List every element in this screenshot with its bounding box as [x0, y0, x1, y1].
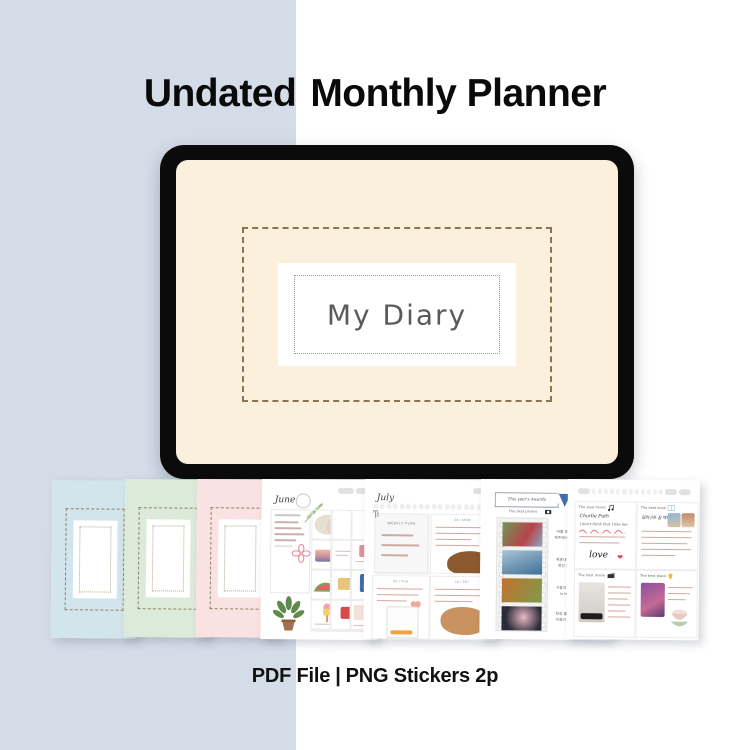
note-line	[668, 599, 686, 601]
tablet-screen: My Diary	[176, 160, 618, 464]
cover-outer-dashed-frame: My Diary	[242, 227, 552, 402]
bestof-music-label: The best music	[579, 505, 606, 509]
note-line	[579, 542, 619, 544]
day-note-line	[435, 545, 479, 547]
day-number-chip[interactable]	[470, 504, 475, 510]
calendar-cell[interactable]	[311, 540, 331, 570]
thumb-june-monthly[interactable]: June	[260, 479, 380, 640]
day-number-chip[interactable]	[641, 489, 645, 495]
day-number-chip[interactable]	[444, 504, 449, 510]
day-number-chip[interactable]	[438, 504, 443, 510]
memo-item-line	[381, 544, 419, 546]
awards-banner-title: This year's Awards	[496, 497, 558, 503]
footer-pdf-label: PDF File	[252, 665, 330, 687]
awards-photos-label: The best photos	[509, 509, 538, 513]
checklist-item-line	[274, 539, 296, 541]
place-photo-sticker	[641, 583, 665, 617]
note-line	[608, 610, 626, 612]
cover-white-box	[146, 519, 191, 597]
july-month-label: July	[377, 493, 394, 503]
day-number-chip[interactable]	[399, 503, 404, 509]
day-number-chip[interactable]	[653, 489, 657, 495]
note-line	[608, 598, 628, 600]
watermelon-sticker-icon	[313, 574, 331, 594]
cell-note-line	[314, 623, 329, 625]
bestof-place-label: The best place	[640, 574, 666, 578]
note-line	[668, 593, 690, 595]
cell-note-line	[335, 555, 348, 557]
cover-dash-inner	[79, 526, 112, 592]
day-number-chip[interactable]	[592, 489, 596, 495]
awards-photo-4[interactable]	[501, 606, 541, 630]
calendar-cell[interactable]	[330, 600, 350, 630]
teacup-sticker-icon	[666, 605, 692, 631]
movie-poster-title-band	[581, 613, 603, 619]
day-number-chip[interactable]	[425, 504, 430, 510]
book-icon	[668, 505, 675, 511]
thumbnail-strip: June	[0, 470, 750, 670]
bestof-music-title: Charlie Puth	[580, 514, 609, 519]
awards-photo-3[interactable]	[502, 578, 542, 602]
calendar-cell[interactable]	[311, 510, 331, 540]
day-number-chip[interactable]	[464, 504, 469, 510]
note-line	[608, 616, 631, 618]
pin-icon	[668, 573, 673, 580]
footer-png-label: PNG Stickers 2p	[346, 665, 499, 687]
banner-left-notch	[488, 492, 495, 504]
bestof-card-book[interactable]: The best book 달러구트 꿈 백화점	[636, 502, 699, 571]
flower-sticker-icon	[291, 543, 311, 563]
awards-photo-1[interactable]	[502, 522, 542, 546]
day-number-chip[interactable]	[622, 489, 626, 495]
bestof-book-label: The best book	[641, 506, 666, 510]
day-number-chip[interactable]	[431, 504, 436, 510]
tablet-mockup: My Diary	[160, 145, 634, 479]
sticker-gift	[341, 607, 351, 619]
day-number-chip[interactable]	[628, 489, 632, 495]
day-number-chip[interactable]	[374, 503, 379, 509]
calendar-cell[interactable]	[331, 540, 351, 570]
day-number-chip[interactable]	[598, 489, 602, 495]
day-number-chip[interactable]	[387, 503, 392, 509]
memo-item-line	[381, 554, 408, 556]
tab-awards[interactable]	[665, 489, 677, 495]
thumb-july-weekly[interactable]: July	[363, 479, 497, 640]
poster-canvas: UndatedMonthly Planner My Diary	[0, 0, 750, 750]
bestof-music-subtitle: I don't think that I like her	[580, 522, 628, 527]
day-note-line	[435, 601, 473, 603]
day-number-chip[interactable]	[634, 489, 638, 495]
page-footer: PDF File|PNG Stickers 2p	[0, 665, 750, 688]
camera-icon	[545, 509, 552, 515]
checklist-item-line	[274, 533, 304, 535]
calendar-cell[interactable]	[311, 570, 331, 600]
page-canvas: July	[367, 483, 493, 636]
note-line	[668, 587, 693, 589]
memo-item-line	[381, 534, 413, 536]
day-number-chip[interactable]	[659, 489, 663, 495]
calendar-cell[interactable]	[330, 630, 350, 632]
sticker-sunset-photo	[315, 550, 331, 562]
cover-dash-inner	[224, 525, 257, 591]
bestof-card-place[interactable]: The best place	[635, 570, 698, 639]
title-word-monthly-planner: Monthly Planner	[310, 72, 606, 115]
zigzag-underline	[579, 528, 625, 533]
title-word-undated: Undated	[144, 72, 297, 115]
book-photo-2	[682, 513, 695, 527]
note-line	[608, 604, 631, 606]
june-calendar-grid	[310, 510, 371, 633]
book-photo-1	[668, 513, 681, 527]
cover-white-panel: My Diary	[278, 263, 516, 366]
clip-icon	[372, 510, 380, 519]
footer-separator: |	[335, 665, 340, 687]
awards-banner: This year's Awards	[495, 492, 559, 508]
memo-title: WEEKLY PLAN	[376, 521, 428, 526]
day-number-chip[interactable]	[604, 489, 608, 495]
sticker-box	[338, 578, 351, 590]
bestof-movie-label: The best movie	[578, 573, 605, 577]
cover-dash-inner	[152, 525, 185, 591]
popsicle-sticker-icon	[319, 603, 330, 624]
note-line	[608, 586, 631, 588]
clapper-icon	[607, 572, 615, 578]
day-note-line	[435, 595, 481, 597]
tab-memo[interactable]	[679, 489, 691, 495]
day-number-chip[interactable]	[419, 504, 424, 510]
note-line	[641, 555, 675, 557]
day-note-line	[377, 588, 423, 590]
note-line	[641, 549, 691, 551]
checklist-title-line	[275, 514, 301, 516]
note-line	[641, 543, 687, 545]
bestof-tab-row	[578, 488, 691, 495]
day-number-chip[interactable]	[393, 503, 398, 509]
note-line	[641, 537, 691, 539]
checklist-empty-line	[274, 545, 292, 547]
day-note-line	[377, 594, 419, 596]
day-note-line	[377, 600, 407, 602]
calendar-cell[interactable]	[331, 570, 351, 600]
day-number-chip[interactable]	[457, 504, 462, 510]
page-title: UndatedMonthly Planner	[0, 72, 750, 116]
day-number-chip[interactable]	[610, 489, 614, 495]
calendar-cell[interactable]	[310, 600, 330, 630]
day-note-line	[435, 539, 471, 541]
awards-photo-2[interactable]	[502, 550, 542, 574]
july-day-number-row	[374, 503, 488, 510]
day-number-chip[interactable]	[412, 503, 417, 509]
day-number-chip[interactable]	[647, 489, 651, 495]
day-note-line	[435, 533, 483, 535]
thumb-bestof[interactable]: The best music Charlie Puth I don't thin…	[566, 479, 700, 640]
calendar-cell[interactable]	[310, 630, 330, 632]
day-number-chip[interactable]	[616, 489, 620, 495]
music-icon	[608, 504, 615, 511]
day-number-chip[interactable]	[380, 503, 385, 509]
calendar-cell[interactable]	[331, 510, 351, 540]
cover-title: My Diary	[278, 298, 516, 331]
tab-calendar[interactable]	[338, 488, 354, 494]
potted-plant-sticker-icon	[272, 595, 304, 631]
june-month-label: June	[275, 495, 296, 505]
tab-monthly-plan[interactable]	[578, 488, 590, 494]
day-header: 09 / THU	[373, 579, 429, 584]
phone-screenshot-button	[390, 630, 412, 634]
page-canvas: The best music Charlie Puth I don't thin…	[570, 483, 696, 636]
checklist-item-line	[275, 521, 299, 523]
heart-icon: ❤	[617, 555, 623, 562]
cover-white-box	[218, 519, 263, 597]
awards-film-strip	[495, 517, 548, 632]
checklist-item-line	[274, 527, 301, 529]
july-weekly-plan-memo[interactable]: WEEKLY PLAN	[374, 513, 429, 574]
note-line	[608, 592, 631, 594]
bestof-card-movie[interactable]: The best movie	[573, 569, 636, 638]
bestof-card-music[interactable]: The best music Charlie Puth I don't thin…	[574, 501, 637, 570]
july-day-card-thu[interactable]: 09 / THU	[371, 575, 430, 640]
note-line	[641, 531, 691, 533]
page-canvas: June	[264, 483, 376, 636]
day-number-chip[interactable]	[451, 504, 456, 510]
day-number-chip[interactable]	[406, 503, 411, 509]
bestof-music-signature: love	[589, 550, 608, 560]
cover-white-box	[73, 520, 118, 598]
cell-note-line	[335, 551, 351, 553]
note-line	[579, 536, 625, 538]
